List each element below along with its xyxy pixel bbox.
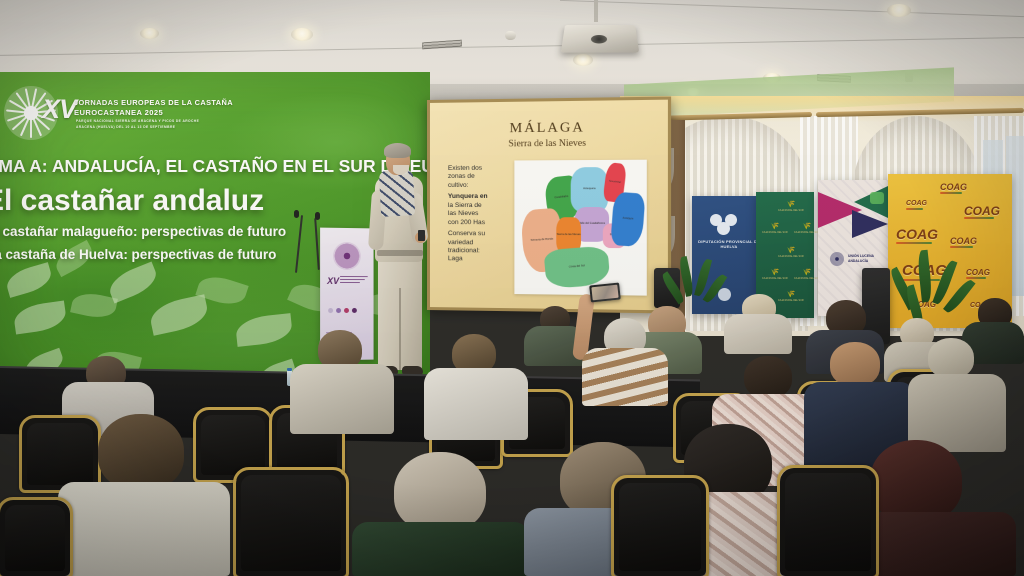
backdrop-subtitle-1: El castañar malagueño: perspectivas de f… bbox=[0, 224, 286, 239]
map-region-label: Costa del Sol bbox=[569, 265, 585, 269]
slide-body-line: variedad bbox=[448, 239, 500, 248]
coag-logo-text: COAG bbox=[950, 236, 977, 246]
banner-huelva-title: DIPUTACIÓN PROVINCIAL DE HUELVA bbox=[692, 240, 766, 249]
audience-body bbox=[582, 348, 668, 406]
crown-icon bbox=[718, 288, 731, 301]
map-region-label: Guadalteba bbox=[554, 196, 568, 200]
audience-body bbox=[424, 368, 528, 440]
slide-body-line: las Nieves bbox=[448, 210, 500, 219]
slide-body-line: tradicional: bbox=[448, 247, 500, 256]
audience-body bbox=[724, 314, 792, 354]
wheat-icon: 🌾CAJA RURAL DEL SUR bbox=[762, 224, 788, 234]
logo-line-4: ARACENA (HUELVA) DEL 10 AL 13 DE SEPTIEM… bbox=[76, 125, 175, 129]
navy-triangle-icon bbox=[852, 210, 888, 238]
rollup-xv-text: XV bbox=[327, 276, 339, 286]
union-mark-icon bbox=[870, 192, 884, 204]
coag-logo-text: COAG bbox=[966, 268, 990, 277]
speaker-belt bbox=[377, 250, 423, 256]
rollup-title-lines bbox=[340, 276, 368, 285]
map-region-label: Nororiental bbox=[609, 181, 621, 185]
logo-line-3: PARQUE NACIONAL SIERRA DE ARACENA Y PICO… bbox=[76, 119, 199, 123]
speaker-hair bbox=[384, 143, 411, 158]
slide-body-line: Existen dos bbox=[448, 165, 500, 174]
projector-lens-icon bbox=[591, 35, 607, 44]
coag-logo-text: COAG bbox=[906, 200, 927, 207]
conference-hall-photo: XV JORNADAS EUROPEAS DE LA CASTAÑA EUROC… bbox=[0, 0, 1024, 576]
coag-logo-text: COAG bbox=[964, 204, 1000, 218]
ceiling-projector bbox=[561, 25, 640, 53]
union-burr-icon bbox=[830, 252, 844, 266]
map-region-label: Sierra de las Nieves bbox=[557, 234, 581, 237]
map-region-label: Axarquía bbox=[622, 218, 633, 222]
slide-body-line: con 200 Has bbox=[448, 219, 500, 228]
wheat-label: CAJA RURAL DEL SUR bbox=[794, 278, 820, 280]
map-region-label: Valle del Guadalhorce bbox=[579, 223, 605, 226]
smoke-detector-icon bbox=[505, 31, 516, 40]
map-region-label: Serranía de Ronda bbox=[531, 238, 554, 242]
backdrop-subtitle-2: La castaña de Huelva: perspectivas de fu… bbox=[0, 247, 276, 262]
audience-head bbox=[394, 452, 486, 532]
microphone-head-icon bbox=[315, 212, 320, 220]
crown-icon bbox=[717, 222, 730, 235]
audience-body bbox=[58, 482, 230, 576]
downlight-icon bbox=[140, 28, 159, 39]
speaker-scarf bbox=[379, 169, 415, 217]
slide-body-line: zonas de bbox=[448, 173, 500, 182]
banner-union-title: UNIÓN LUCENA ANDALUCÍA bbox=[848, 254, 888, 264]
banquet-chair[interactable] bbox=[614, 478, 706, 576]
audience-head bbox=[928, 338, 974, 378]
downlight-icon bbox=[291, 28, 313, 41]
bottle-cap bbox=[287, 368, 292, 371]
audience-body bbox=[290, 364, 394, 434]
wheat-icon: 🌾CAJA RURAL DEL SUR bbox=[778, 248, 804, 258]
wheat-label: CAJA RURAL DEL SUR bbox=[778, 210, 804, 212]
slide-body-line: cultivo: bbox=[448, 182, 500, 191]
slide-body-line: Conserva su bbox=[448, 230, 500, 239]
slide-body-line: la Sierra de bbox=[448, 202, 500, 211]
wheat-label: CAJA RURAL DEL SUR bbox=[778, 256, 804, 258]
projection-screen: MÁLAGA Sierra de las Nieves Existen dos … bbox=[427, 97, 671, 314]
logo-xv-text: XV bbox=[42, 94, 76, 125]
slide-body-line: Laga bbox=[448, 256, 500, 265]
projector-mount bbox=[594, 0, 598, 22]
coag-logo-text: COAG bbox=[896, 226, 938, 242]
wheat-icon: 🌾CAJA RURAL DEL SUR bbox=[794, 224, 820, 234]
banquet-chair[interactable] bbox=[236, 470, 346, 576]
map-region-costa-del-sol: Costa del Sol bbox=[543, 245, 610, 289]
microphone-head-icon bbox=[294, 210, 299, 218]
wheat-icon: 🌾CAJA RURAL DEL SUR bbox=[778, 202, 804, 212]
audience-head bbox=[98, 414, 184, 490]
malaga-comarcas-map: Guadalteba Antequera Nororiental Valle d… bbox=[514, 160, 646, 296]
audience-head bbox=[744, 356, 792, 398]
banquet-chair[interactable] bbox=[0, 500, 70, 576]
logo-line-2: EUROCASTANEA 2025 bbox=[74, 108, 163, 117]
slide-title: MÁLAGA bbox=[430, 119, 668, 138]
backdrop-main-title: El castañar andaluz bbox=[0, 184, 264, 218]
wheat-label: CAJA RURAL DEL SUR bbox=[778, 300, 804, 302]
slide-body-text: Existen dos zonas de cultivo: Yunquera e… bbox=[448, 165, 500, 265]
wheat-icon: 🌾CAJA RURAL DEL SUR bbox=[794, 270, 820, 280]
map-region-antequera: Antequera bbox=[571, 167, 608, 212]
coag-logo-text: COAG bbox=[940, 182, 967, 192]
map-region-axarquia: Axarquía bbox=[610, 192, 645, 247]
presentation-slide: MÁLAGA Sierra de las Nieves Existen dos … bbox=[430, 100, 668, 311]
rollup-sponsor-dots bbox=[328, 308, 368, 313]
map-region-label: Antequera bbox=[583, 188, 595, 191]
slide-subtitle: Sierra de las Nieves bbox=[430, 138, 668, 150]
chestnut-burr-logo-icon bbox=[333, 242, 361, 270]
wheat-icon: 🌾CAJA RURAL DEL SUR bbox=[778, 292, 804, 302]
logo-line-1: JORNADAS EUROPEAS DE LA CASTAÑA bbox=[74, 98, 233, 107]
speaker-handheld-device bbox=[418, 230, 425, 241]
banquet-chair[interactable] bbox=[780, 468, 876, 576]
audience-head bbox=[830, 342, 880, 386]
wheat-label: CAJA RURAL DEL SUR bbox=[762, 278, 788, 280]
slide-body-line-bold: Yunquera en bbox=[448, 193, 500, 202]
smartphone[interactable] bbox=[589, 282, 621, 302]
wheat-icon: 🌾CAJA RURAL DEL SUR bbox=[762, 270, 788, 280]
wheat-label: CAJA RURAL DEL SUR bbox=[762, 232, 788, 234]
phone-screen bbox=[591, 285, 618, 301]
downlight-icon bbox=[573, 54, 593, 66]
audience-head bbox=[870, 440, 962, 522]
speaker-leg-split bbox=[399, 288, 401, 370]
banquet-chair[interactable] bbox=[22, 418, 98, 490]
downlight-icon bbox=[887, 4, 911, 17]
wheat-label: CAJA RURAL DEL SUR bbox=[794, 232, 820, 234]
audience-body bbox=[352, 522, 530, 576]
speaker-beard bbox=[393, 165, 409, 175]
